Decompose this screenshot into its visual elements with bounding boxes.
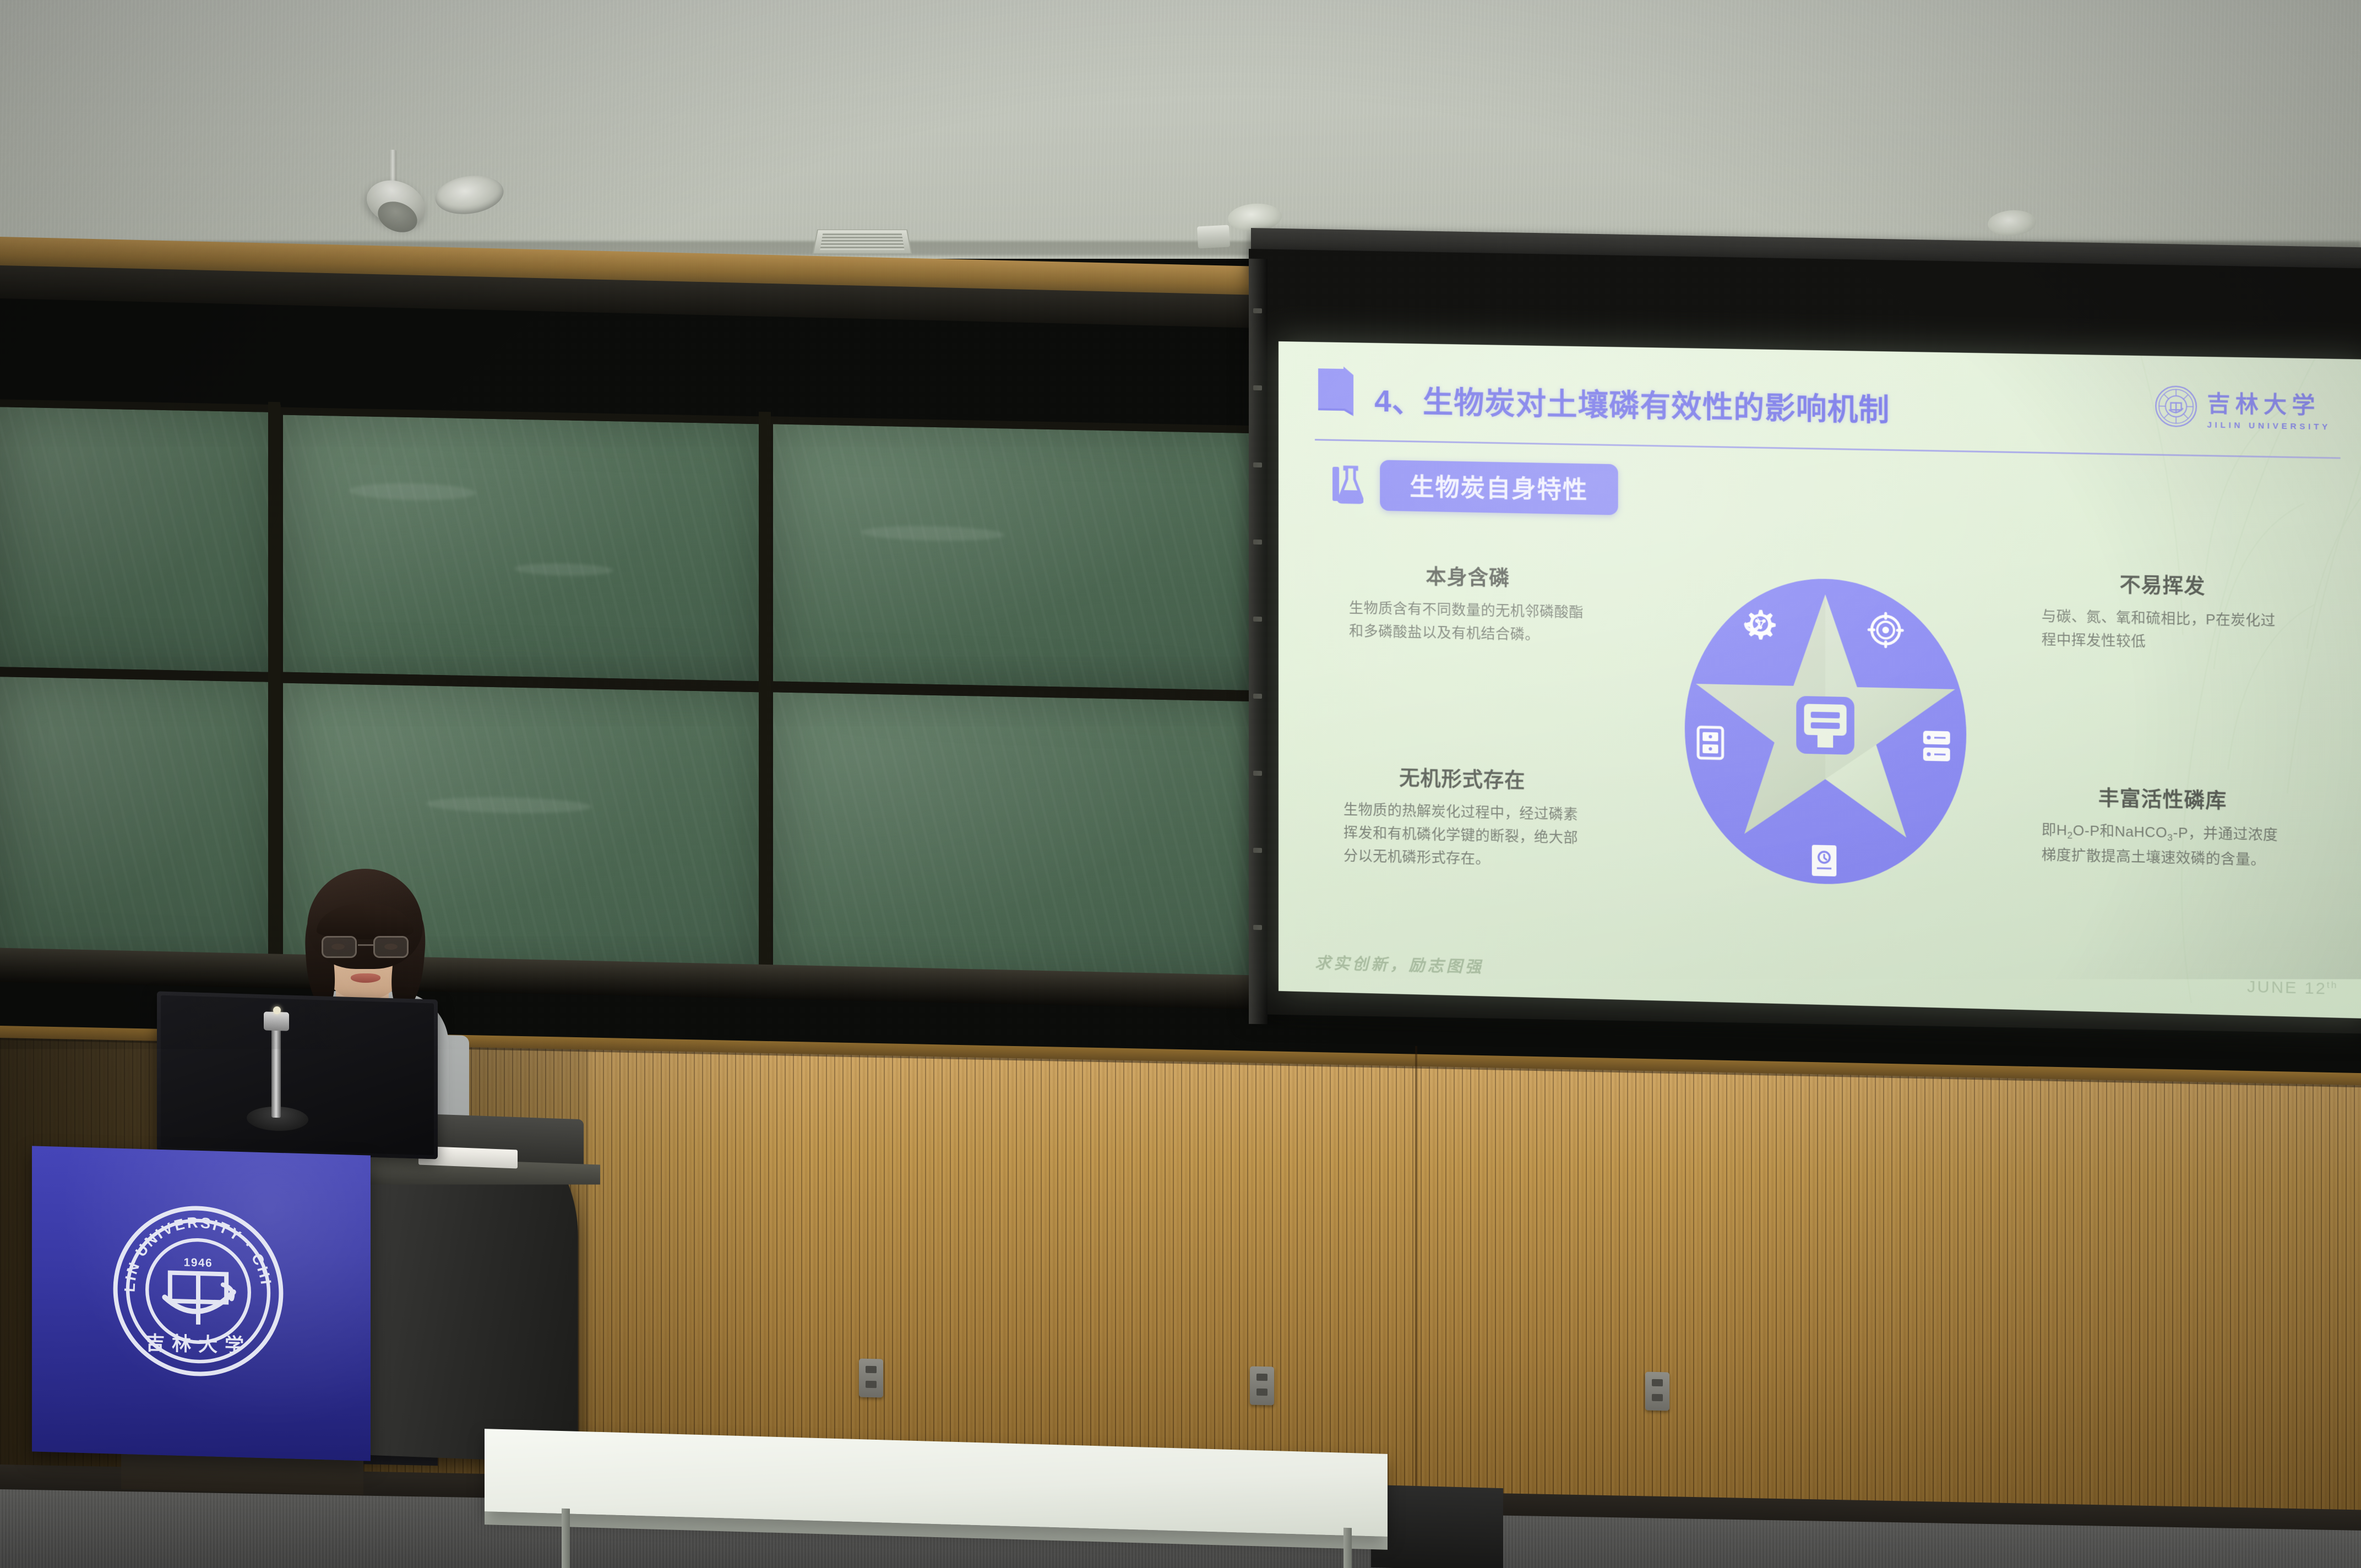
wall-outlet (1645, 1372, 1669, 1411)
info-block-heading: 本身含磷 (1349, 558, 1587, 593)
slide-motto: 求实创新，励志图强 (1315, 950, 1484, 978)
formula-part: O-P和NaHCO (2073, 822, 2168, 841)
info-block-body: 与碳、氮、氧和硫相比，P在炭化过程中挥发性较低 (2042, 605, 2284, 656)
note-card-icon (1796, 696, 1854, 755)
info-block-bottom-right: 丰富活性磷库 即H2O-P和NaHCO3-P，并通过浓度梯度扩散提高土壤速效磷的… (2042, 780, 2284, 872)
board-divider (759, 412, 771, 995)
table-leg (562, 1509, 570, 1568)
slide-header: 4、生物炭对土壤磷有效性的影响机制 吉林大学 (1315, 361, 2341, 451)
section-badge-label: 生物炭自身特性 (1380, 460, 1618, 515)
crest-outer-text: JILIN UNIVERSITY · CHINA (110, 1201, 275, 1297)
wall-outlet (859, 1359, 883, 1398)
lectern-monitor[interactable] (157, 991, 438, 1159)
book-icon (1315, 366, 1356, 418)
glasses-lens-right (373, 936, 409, 958)
floor-gap-shadow (1371, 1485, 1503, 1568)
info-block-heading: 无机形式存在 (1343, 760, 1581, 796)
lecture-hall-scene: 4、生物炭对土壤磷有效性的影响机制 吉林大学 (0, 0, 2361, 1568)
presentation-slide: 4、生物炭对土壤磷有效性的影响机制 吉林大学 (1279, 341, 2361, 1019)
screen-rail-notch (1253, 925, 1262, 930)
screen-rail-notch (1253, 540, 1262, 545)
crest-year: 1946 (184, 1256, 213, 1270)
chalkboard-panel (0, 399, 281, 680)
formula-subscript: 3 (2167, 832, 2173, 843)
info-block-top-right: 不易挥发 与碳、氮、氧和硫相比，P在炭化过程中挥发性较低 (2042, 567, 2284, 656)
board-divider (268, 402, 280, 986)
glasses-icon (320, 936, 410, 959)
slide-date-suffix: th (2327, 979, 2338, 990)
jilin-university-logo: 吉林大学 JILIN UNIVERSITY (2154, 380, 2341, 435)
chalkboard-wall (0, 237, 1448, 1118)
microphone-icon[interactable] (264, 1011, 289, 1031)
flask-icon (1331, 465, 1363, 505)
screen-rail-notch (1253, 694, 1262, 699)
crest-name-cn: 吉林大学 (145, 1332, 251, 1357)
wall-outlet (1250, 1366, 1274, 1406)
chalkboard-panel (0, 669, 281, 974)
formula-subscript: 2 (2068, 830, 2073, 841)
chalkboard-panel (765, 416, 1277, 699)
glasses-bridge (358, 944, 373, 946)
jilin-university-seal-icon (2154, 384, 2198, 428)
star-circle-diagram (1669, 543, 1982, 921)
info-block-heading: 不易挥发 (2042, 567, 2284, 601)
chalkboard-panel (275, 407, 771, 689)
document-icon (1812, 845, 1837, 876)
wood-panel-seam (1415, 1046, 1417, 1498)
chalkboard-panel (765, 684, 1277, 994)
presenter-mouth (351, 973, 380, 983)
table-leg (1343, 1528, 1352, 1568)
section-badge: 生物炭自身特性 (1331, 459, 1618, 515)
projector-screen-left-rail (1249, 259, 1267, 1025)
screen-rail-notch (1253, 617, 1262, 622)
logo-name-en: JILIN UNIVERSITY (2207, 420, 2331, 432)
logo-name-cn: 吉林大学 (2207, 384, 2331, 420)
info-block-bottom-left: 无机形式存在 生物质的热解炭化过程中，经过磷素挥发和有机磷化学键的断裂，绝大部分… (1343, 760, 1581, 873)
svg-text:JILIN UNIVERSITY · CHINA: JILIN UNIVERSITY · CHINA (110, 1201, 275, 1297)
jilin-university-wordmark: 吉林大学 JILIN UNIVERSITY (2207, 384, 2331, 432)
slide-title: 4、生物炭对土壤磷有效性的影响机制 (1374, 376, 1890, 429)
screen-rail-notch (1253, 848, 1262, 853)
glasses-lens-left (322, 936, 357, 958)
info-block-heading: 丰富活性磷库 (2042, 780, 2284, 816)
microphone-stem (271, 1021, 281, 1118)
screen-rail-notch (1253, 308, 1262, 313)
screen-rail-notch (1253, 385, 1262, 390)
slide-date-text: JUNE 12 (2247, 978, 2327, 998)
microphone-indicator-light (273, 1006, 281, 1014)
screen-rail-notch (1253, 462, 1262, 467)
info-block-body: 生物质含有不同数量的无机邻磷酸酯和多磷酸盐以及有机结合磷。 (1349, 596, 1587, 647)
slide-date: JUNE 12th (2247, 978, 2338, 999)
info-block-body: 即H2O-P和NaHCO3-P，并通过浓度梯度扩散提高土壤速效磷的含量。 (2042, 818, 2284, 872)
screen-rail-notch (1253, 771, 1262, 776)
formula-part: 即H (2042, 821, 2068, 839)
jilin-university-crest-icon: JILIN UNIVERSITY · CHINA 1946 吉林大学 (110, 1201, 286, 1381)
info-block-body: 生物质的热解炭化过程中，经过磷素挥发和有机磷化学键的断裂，绝大部分以无机磷形式存… (1343, 798, 1581, 873)
info-block-top-left: 本身含磷 生物质含有不同数量的无机邻磷酸酯和多磷酸盐以及有机结合磷。 (1349, 558, 1587, 647)
